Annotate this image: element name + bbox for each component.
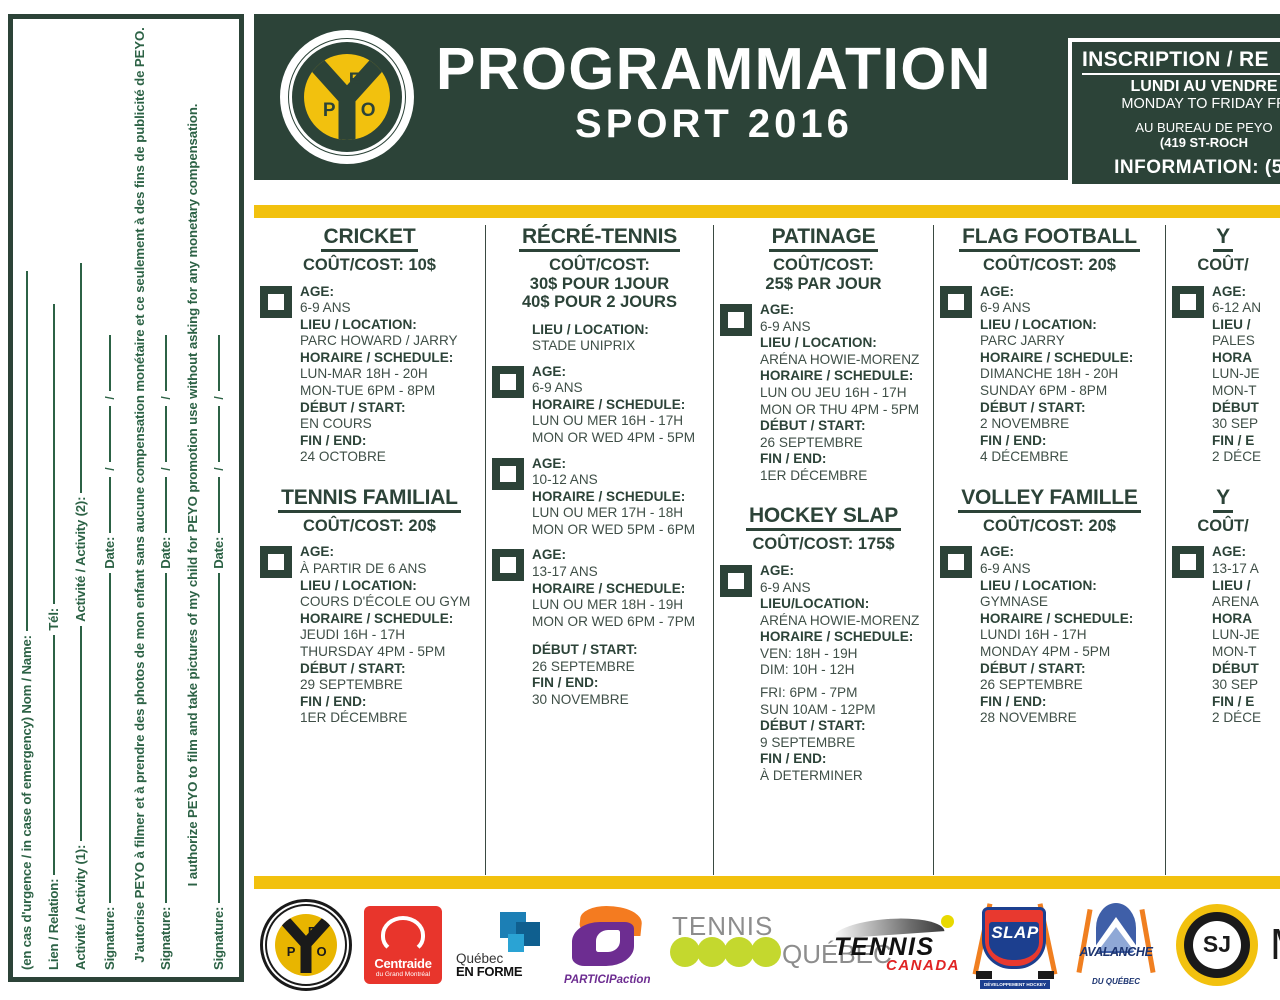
- field-label: HORAIRE / SCHEDULE:: [980, 611, 1159, 628]
- program-title: TENNIS FAMILIAL: [278, 486, 461, 513]
- program-block: PATINAGECOÛT/COST:25$ PAR JOURAGE:6-9 AN…: [720, 225, 927, 498]
- field-label: FIN / E: [1212, 433, 1274, 450]
- divider-bar-bottom: [254, 876, 1280, 889]
- field-value: PARC HOWARD / JARRY: [300, 333, 479, 350]
- program-entry: AGE:6-9 ANSLIEU / LOCATION:GYMNASEHORAIR…: [940, 544, 1159, 726]
- form-date-label-1: Date:: [102, 537, 117, 569]
- field-label: FIN / END:: [760, 751, 927, 768]
- program-cost: COÛT/: [1172, 256, 1274, 274]
- field-value: MON OR THU 4PM - 5PM: [760, 402, 927, 419]
- entry-details: AGE:10-12 ANSHORAIRE / SCHEDULE:LUN OU M…: [532, 456, 707, 539]
- field-value: 30 SEP: [1212, 416, 1274, 433]
- field-label: HORAIRE / SCHEDULE:: [980, 350, 1159, 367]
- jeunesse-initials: SJ: [1176, 904, 1258, 986]
- partial-logo-m: M: [1270, 920, 1280, 970]
- program-checkbox[interactable]: [260, 286, 292, 318]
- program-checkbox[interactable]: [1172, 546, 1204, 578]
- form-emergency-row: (en cas d'urgence / in case of emergency…: [20, 20, 33, 970]
- program-block: HOCKEY SLAPCOÛT/COST: 175$AGE:6-9 ANSLIE…: [720, 504, 927, 798]
- field-label: DÉBUT / START:: [980, 661, 1159, 678]
- form-emergency-label: (en cas d'urgence / in case of emergency…: [19, 635, 34, 970]
- program-block: TENNIS FAMILIALCOÛT/COST: 20$AGE:À PARTI…: [260, 486, 479, 741]
- program-title: Y: [1213, 225, 1233, 252]
- field-value: À DETERMINER: [760, 768, 927, 785]
- entry-details: AGE:13-17 ALIEU /ARENAHORALUN-JEMON-TDÉB…: [1212, 544, 1274, 726]
- program-cost-line: 40$ POUR 2 JOURS: [492, 293, 707, 311]
- program-preamble: LIEU / LOCATION:STADE UNIPRIX: [532, 322, 707, 355]
- program-title: CRICKET: [321, 225, 419, 252]
- inscription-info-box: INSCRIPTION / RE LUNDI AU VENDRE MONDAY …: [1068, 38, 1280, 188]
- field-value: 30 SEP: [1212, 677, 1274, 694]
- field-label: DÉBUT / START:: [300, 400, 479, 417]
- program-entry: AGE:6-9 ANSHORAIRE / SCHEDULE:LUN OU MER…: [492, 364, 707, 447]
- centraide-logo-icon: Centraide du Grand Montréal: [364, 906, 442, 984]
- field-label: LIEU/LOCATION:: [760, 596, 927, 613]
- field-value: LUN-JE: [1212, 366, 1274, 383]
- field-value: 6-9 ANS: [980, 300, 1159, 317]
- field-label: HORAIRE / SCHEDULE:: [300, 350, 479, 367]
- field-value: ARÉNA HOWIE-MORENZ: [760, 613, 927, 630]
- program-title: HOCKEY SLAP: [746, 504, 901, 531]
- avalanche-word: AVALANCHE: [1068, 945, 1164, 959]
- form-date-m-2[interactable]: [165, 406, 167, 462]
- field-label: AGE:: [980, 544, 1159, 561]
- field-label: AGE:: [532, 547, 707, 564]
- program-title: RÉCRÉ-TENNIS: [519, 225, 680, 252]
- program-entry: AGE:10-12 ANSHORAIRE / SCHEDULE:LUN OU M…: [492, 456, 707, 539]
- field-value: VEN: 18H - 19H: [760, 646, 927, 663]
- field-value: DIMANCHE 18H - 20H: [980, 366, 1159, 383]
- field-label: FIN / END:: [760, 451, 927, 468]
- field-label: AGE:: [1212, 284, 1274, 301]
- program-checkbox[interactable]: [940, 546, 972, 578]
- slap-logo-icon: SLAP DÉVELOPPEMENT HOCKEY: [974, 901, 1056, 989]
- field-value: 13-17 A: [1212, 561, 1274, 578]
- field-value: ARENA: [1212, 594, 1274, 611]
- field-label: LIEU /: [1212, 317, 1274, 334]
- program-checkbox[interactable]: [720, 565, 752, 597]
- field-value: 30 NOVEMBRE: [532, 692, 707, 709]
- entry-details: AGE:6-9 ANSLIEU/LOCATION:ARÉNA HOWIE-MOR…: [760, 563, 927, 785]
- program-footer-fields: DÉBUT / START:26 SEPTEMBREFIN / END:30 N…: [532, 642, 707, 708]
- form-date-label-3: Date:: [211, 537, 226, 569]
- field-value: 6-9 ANS: [300, 300, 479, 317]
- field-value: 1ER DÉCEMBRE: [760, 468, 927, 485]
- form-signature-label-2: Signature:: [158, 907, 173, 970]
- inscription-days-en: MONDAY TO FRIDAY FR: [1082, 96, 1280, 112]
- entry-details: AGE:6-9 ANSLIEU / LOCATION:PARC HOWARD /…: [300, 284, 479, 466]
- field-label: DÉBUT / START:: [760, 718, 927, 735]
- field-value: DIM: 10H - 12H: [760, 662, 927, 679]
- form-tel-line[interactable]: [53, 304, 55, 604]
- avalanche-sub: DU QUÉBEC: [1068, 977, 1164, 986]
- field-value: THURSDAY 4PM - 5PM: [300, 644, 479, 661]
- field-value: 29 SEPTEMBRE: [300, 677, 479, 694]
- inscription-office: AU BUREAU DE PEYO: [1082, 120, 1280, 135]
- tennis-canada-logo-icon: TENNIS CANADA: [832, 913, 962, 977]
- field-value: LUN-MAR 18H - 20H: [300, 366, 479, 383]
- field-value: 6-12 AN: [1212, 300, 1274, 317]
- field-value: MON OR WED 6PM - 7PM: [532, 614, 707, 631]
- badge-letter-e: E: [349, 70, 362, 92]
- field-value: MON OR WED 4PM - 5PM: [532, 430, 707, 447]
- tennis-quebec-logo-icon: TENNIS QUÉBEC: [670, 909, 820, 981]
- program-block: FLAG FOOTBALLCOÛT/COST: 20$AGE:6-9 ANSLI…: [940, 225, 1159, 480]
- field-label: LIEU / LOCATION:: [532, 322, 707, 339]
- participaction-logo-icon: PARTICIPaction: [562, 904, 658, 986]
- field-value: 28 NOVEMBRE: [980, 710, 1159, 727]
- field-label: AGE:: [1212, 544, 1274, 561]
- field-value: FRI: 6PM - 7PM: [760, 685, 927, 702]
- form-date-d-2[interactable]: [165, 477, 167, 533]
- field-value: COURS D'ÉCOLE OU GYM: [300, 594, 479, 611]
- form-activity1-row: Activité / Activity (1):Activité / Activ…: [74, 20, 87, 970]
- field-label: DÉBUT / START:: [532, 642, 707, 659]
- program-entry: AGE:6-9 ANSLIEU/LOCATION:ARÉNA HOWIE-MOR…: [720, 563, 927, 785]
- program-title-wrap: VOLLEY FAMILLE: [940, 486, 1159, 513]
- form-date-m-3[interactable]: [218, 406, 220, 462]
- program-spacer: [720, 484, 927, 498]
- field-value: 6-9 ANS: [532, 380, 707, 397]
- program-title-wrap: FLAG FOOTBALL: [940, 225, 1159, 252]
- field-value: LUN-JE: [1212, 627, 1274, 644]
- field-value: 2 DÉCE: [1212, 449, 1274, 466]
- field-value: 26 SEPTEMBRE: [980, 677, 1159, 694]
- entry-details: AGE:6-9 ANSLIEU / LOCATION:GYMNASEHORAIR…: [980, 544, 1159, 726]
- program-block: RÉCRÉ-TENNISCOÛT/COST:30$ POUR 1JOUR40$ …: [492, 225, 707, 723]
- registration-form-panel: (en cas d'urgence / in case of emergency…: [8, 14, 244, 982]
- field-value: SUNDAY 6PM - 8PM: [980, 383, 1159, 400]
- field-label: DÉBUT / START:: [980, 400, 1159, 417]
- field-label: DÉBUT / START:: [300, 661, 479, 678]
- field-value: MON-T: [1212, 383, 1274, 400]
- field-label: AGE:: [980, 284, 1159, 301]
- form-signature-line-1[interactable]: [109, 573, 111, 903]
- program-title: Y: [1213, 486, 1233, 513]
- program-column-3: PATINAGECOÛT/COST:25$ PAR JOURAGE:6-9 AN…: [714, 225, 934, 875]
- program-cost: COÛT/COST: 175$: [720, 535, 927, 553]
- field-value: MON-T: [1212, 644, 1274, 661]
- field-label: AGE:: [760, 563, 927, 580]
- field-label: DÉBUT: [1212, 400, 1274, 417]
- program-block: CRICKETCOÛT/COST: 10$AGE:6-9 ANSLIEU / L…: [260, 225, 479, 480]
- form-signature-line-3[interactable]: [218, 573, 220, 903]
- slap-sub: DÉVELOPPEMENT HOCKEY: [980, 980, 1050, 989]
- program-spacer: [1172, 466, 1274, 480]
- form-rotated-content: (en cas d'urgence / in case of emergency…: [16, 18, 242, 976]
- program-checkbox[interactable]: [1172, 286, 1204, 318]
- program-cost: COÛT/COST: 20$: [260, 517, 479, 535]
- divider-bar-top: [254, 205, 1280, 218]
- field-value: EN COURS: [300, 416, 479, 433]
- entry-details: AGE:6-9 ANSLIEU / LOCATION:ARÉNA HOWIE-M…: [760, 302, 927, 484]
- field-label: DÉBUT: [1212, 661, 1274, 678]
- program-title: PATINAGE: [769, 225, 879, 252]
- jeunesse-au-soleil-logo-icon: SJ: [1176, 904, 1258, 986]
- field-label: AGE:: [760, 302, 927, 319]
- page-subtitle: SPORT 2016: [436, 101, 992, 147]
- form-date-y-2[interactable]: [165, 335, 167, 391]
- program-column-2: RÉCRÉ-TENNISCOÛT/COST:30$ POUR 1JOUR40$ …: [486, 225, 714, 875]
- inscription-title: INSCRIPTION / RE: [1082, 48, 1280, 75]
- field-value: 24 OCTOBRE: [300, 449, 479, 466]
- field-label: HORAIRE / SCHEDULE:: [532, 397, 707, 414]
- program-entry: AGE:6-9 ANSLIEU / LOCATION:ARÉNA HOWIE-M…: [720, 302, 927, 484]
- field-label: LIEU /: [1212, 578, 1274, 595]
- field-value: SUN 10AM - 12PM: [760, 702, 927, 719]
- inscription-address: (419 ST-ROCH: [1082, 135, 1280, 150]
- field-label: LIEU / LOCATION:: [300, 317, 479, 334]
- entry-details: AGE:À PARTIR DE 6 ANSLIEU / LOCATION:COU…: [300, 544, 479, 726]
- field-value: 26 SEPTEMBRE: [760, 435, 927, 452]
- program-spacer: [720, 784, 927, 798]
- field-label: AGE:: [300, 544, 479, 561]
- field-value: 10-12 ANS: [532, 472, 707, 489]
- program-column-4: FLAG FOOTBALLCOÛT/COST: 20$AGE:6-9 ANSLI…: [934, 225, 1166, 875]
- slap-word: SLAP: [974, 923, 1056, 943]
- field-label: HORA: [1212, 350, 1274, 367]
- field-label: LIEU / LOCATION:: [980, 317, 1159, 334]
- field-label: LIEU / LOCATION:: [760, 335, 927, 352]
- field-value: 9 SEPTEMBRE: [760, 735, 927, 752]
- field-label: AGE:: [300, 284, 479, 301]
- page-title: PROGRAMMATION: [436, 40, 992, 99]
- form-date-y-3[interactable]: [218, 335, 220, 391]
- program-block: YCOÛT/AGE:6-12 ANLIEU /PALESHORALUN-JEMO…: [1172, 225, 1274, 480]
- field-label: DÉBUT / START:: [760, 418, 927, 435]
- field-label: HORA: [1212, 611, 1274, 628]
- program-block: VOLLEY FAMILLECOÛT/COST: 20$AGE:6-9 ANSL…: [940, 486, 1159, 741]
- field-label: FIN / END:: [980, 694, 1159, 711]
- program-column-5: YCOÛT/AGE:6-12 ANLIEU /PALESHORALUN-JEMO…: [1166, 225, 1280, 875]
- field-value: MONDAY 4PM - 5PM: [980, 644, 1159, 661]
- badge-letter-o: O: [361, 100, 376, 122]
- field-label: AGE:: [532, 456, 707, 473]
- sponsor-logo-strip: EPO Centraide du Grand Montréal Québec E…: [254, 889, 1280, 1000]
- program-spacer: [260, 466, 479, 480]
- field-label: FIN / END:: [300, 694, 479, 711]
- program-checkbox[interactable]: [492, 366, 524, 398]
- entry-details: AGE:6-12 ANLIEU /PALESHORALUN-JEMON-TDÉB…: [1212, 284, 1274, 466]
- form-date-m-1[interactable]: [109, 406, 111, 462]
- tennis-canada-sub: CANADA: [886, 957, 960, 974]
- qef-sub: EN FORME: [456, 964, 522, 979]
- program-grid: CRICKETCOÛT/COST: 10$AGE:6-9 ANSLIEU / L…: [254, 225, 1280, 875]
- field-label: AGE:: [532, 364, 707, 381]
- field-value: 2 NOVEMBRE: [980, 416, 1159, 433]
- form-tel-label: Tél:: [46, 608, 61, 631]
- centraide-name: Centraide: [374, 956, 431, 971]
- poster-root: (en cas d'urgence / in case of emergency…: [0, 0, 1280, 1000]
- inscription-days-fr: LUNDI AU VENDRE: [1082, 78, 1280, 96]
- program-title-wrap: Y: [1172, 225, 1274, 252]
- form-consent-fr: J'autorise PEYO à filmer et à prendre de…: [132, 20, 148, 970]
- form-date-d-1[interactable]: [109, 477, 111, 533]
- form-activity1-line[interactable]: [80, 626, 82, 841]
- program-cost-line: 25$ PAR JOUR: [720, 275, 927, 293]
- program-spacer: [260, 727, 479, 741]
- field-value: 2 DÉCE: [1212, 710, 1274, 727]
- form-signature-row-1: Signature:Date://: [103, 20, 116, 970]
- inscription-phone: INFORMATION: (51: [1082, 157, 1280, 179]
- form-activity2-label: Activité / Activity (2):: [73, 497, 88, 622]
- field-value: LUN OU MER 18H - 19H: [532, 597, 707, 614]
- field-value: MON OR WED 5PM - 6PM: [532, 522, 707, 539]
- program-checkbox[interactable]: [940, 286, 972, 318]
- field-value: 1ER DÉCEMBRE: [300, 710, 479, 727]
- participaction-name: PARTICIPaction: [564, 974, 650, 986]
- field-value: PALES: [1212, 333, 1274, 350]
- field-label: HORAIRE / SCHEDULE:: [760, 629, 927, 646]
- field-value: 13-17 ANS: [532, 564, 707, 581]
- form-signature-row-2: Signature:Date://: [159, 20, 172, 970]
- peyo-badge-icon: E P O: [280, 30, 414, 164]
- form-signature-row-3: Signature:Date://: [212, 20, 225, 970]
- program-cost: COÛT/: [1172, 517, 1274, 535]
- avalanche-logo-icon: AVALANCHE DU QUÉBEC: [1068, 901, 1164, 989]
- title-block: PROGRAMMATION SPORT 2016: [436, 40, 992, 147]
- program-cost: COÛT/COST: 10$: [260, 256, 479, 274]
- program-entry: AGE:6-12 ANLIEU /PALESHORALUN-JEMON-TDÉB…: [1172, 284, 1274, 466]
- program-spacer: [940, 727, 1159, 741]
- field-value: LUN OU MER 16H - 17H: [532, 413, 707, 430]
- program-entry: AGE:13-17 ANSHORAIRE / SCHEDULE:LUN OU M…: [492, 547, 707, 630]
- field-value: LUN OU JEU 16H - 17H: [760, 385, 927, 402]
- program-cost: COÛT/COST:: [720, 256, 927, 274]
- field-value: ARÉNA HOWIE-MORENZ: [760, 352, 927, 369]
- field-value: JEUDI 16H - 17H: [300, 627, 479, 644]
- entry-details: AGE:13-17 ANSHORAIRE / SCHEDULE:LUN OU M…: [532, 547, 707, 630]
- field-label: FIN / END:: [980, 433, 1159, 450]
- form-signature-label-1: Signature:: [102, 907, 117, 970]
- entry-details: AGE:6-9 ANSLIEU / LOCATION:PARC JARRYHOR…: [980, 284, 1159, 466]
- program-cost: COÛT/COST: 20$: [940, 517, 1159, 535]
- form-activity2-line[interactable]: [80, 263, 82, 493]
- field-value: PARC JARRY: [980, 333, 1159, 350]
- field-value: 4 DÉCEMBRE: [980, 449, 1159, 466]
- field-value: LUNDI 16H - 17H: [980, 627, 1159, 644]
- form-date-y-1[interactable]: [109, 335, 111, 391]
- field-label: HORAIRE / SCHEDULE:: [532, 581, 707, 598]
- program-column-1: CRICKETCOÛT/COST: 10$AGE:6-9 ANSLIEU / L…: [254, 225, 486, 875]
- program-entry: AGE:À PARTIR DE 6 ANSLIEU / LOCATION:COU…: [260, 544, 479, 726]
- form-activity1-label: Activité / Activity (1):: [73, 845, 88, 970]
- program-block: YCOÛT/AGE:13-17 ALIEU /ARENAHORALUN-JEMO…: [1172, 486, 1274, 741]
- field-value: GYMNASE: [980, 594, 1159, 611]
- field-value: LUN OU MER 17H - 18H: [532, 505, 707, 522]
- program-title-wrap: HOCKEY SLAP: [720, 504, 927, 531]
- form-date-d-3[interactable]: [218, 477, 220, 533]
- program-title-wrap: RÉCRÉ-TENNIS: [492, 225, 707, 252]
- form-emergency-line[interactable]: [26, 271, 28, 631]
- form-consent-en: I authorize PEYO to film and take pictur…: [185, 20, 201, 970]
- field-label: HORAIRE / SCHEDULE:: [760, 368, 927, 385]
- form-signature-line-2[interactable]: [165, 573, 167, 903]
- program-title-wrap: Y: [1172, 486, 1274, 513]
- program-spacer: [940, 466, 1159, 480]
- form-relation-line[interactable]: [53, 635, 55, 875]
- program-title: FLAG FOOTBALL: [959, 225, 1140, 252]
- program-checkbox[interactable]: [492, 458, 524, 490]
- program-entry: AGE:6-9 ANSLIEU / LOCATION:PARC HOWARD /…: [260, 284, 479, 466]
- program-checkbox[interactable]: [260, 546, 292, 578]
- field-label: HORAIRE / SCHEDULE:: [300, 611, 479, 628]
- program-title: VOLLEY FAMILLE: [958, 486, 1141, 513]
- program-entry: AGE:6-9 ANSLIEU / LOCATION:PARC JARRYHOR…: [940, 284, 1159, 466]
- program-checkbox[interactable]: [720, 304, 752, 336]
- program-cost: COÛT/COST: 20$: [940, 256, 1159, 274]
- program-cost-line: 30$ POUR 1JOUR: [492, 275, 707, 293]
- field-value: 26 SEPTEMBRE: [532, 659, 707, 676]
- field-label: LIEU / LOCATION:: [300, 578, 479, 595]
- form-relation-row: Lien / Relation:Tél:: [47, 20, 60, 970]
- quebec-en-forme-logo-icon: Québec EN FORME: [454, 910, 550, 980]
- field-value: MON-TUE 6PM - 8PM: [300, 383, 479, 400]
- field-label: FIN / E: [1212, 694, 1274, 711]
- program-entry: AGE:13-17 ALIEU /ARENAHORALUN-JEMON-TDÉB…: [1172, 544, 1274, 726]
- peyo-logo-icon: EPO: [260, 899, 352, 991]
- field-value: À PARTIR DE 6 ANS: [300, 561, 479, 578]
- form-signature-label-3: Signature:: [211, 907, 226, 970]
- form-relation-label: Lien / Relation:: [46, 879, 61, 970]
- field-label: LIEU / LOCATION:: [980, 578, 1159, 595]
- form-date-label-2: Date:: [158, 537, 173, 569]
- badge-letter-p: P: [323, 100, 336, 122]
- field-label: FIN / END:: [300, 433, 479, 450]
- program-title-wrap: PATINAGE: [720, 225, 927, 252]
- program-title-wrap: TENNIS FAMILIAL: [260, 486, 479, 513]
- program-spacer: [1172, 727, 1274, 741]
- program-cost: COÛT/COST:: [492, 256, 707, 274]
- field-label: FIN / END:: [532, 675, 707, 692]
- field-label: HORAIRE / SCHEDULE:: [532, 489, 707, 506]
- program-title-wrap: CRICKET: [260, 225, 479, 252]
- field-value: 6-9 ANS: [980, 561, 1159, 578]
- field-value: STADE UNIPRIX: [532, 338, 707, 355]
- field-value: 6-9 ANS: [760, 580, 927, 597]
- program-checkbox[interactable]: [492, 549, 524, 581]
- field-value: 6-9 ANS: [760, 319, 927, 336]
- entry-details: AGE:6-9 ANSHORAIRE / SCHEDULE:LUN OU MER…: [532, 364, 707, 447]
- program-spacer: [492, 709, 707, 723]
- centraide-sub: du Grand Montréal: [376, 971, 430, 978]
